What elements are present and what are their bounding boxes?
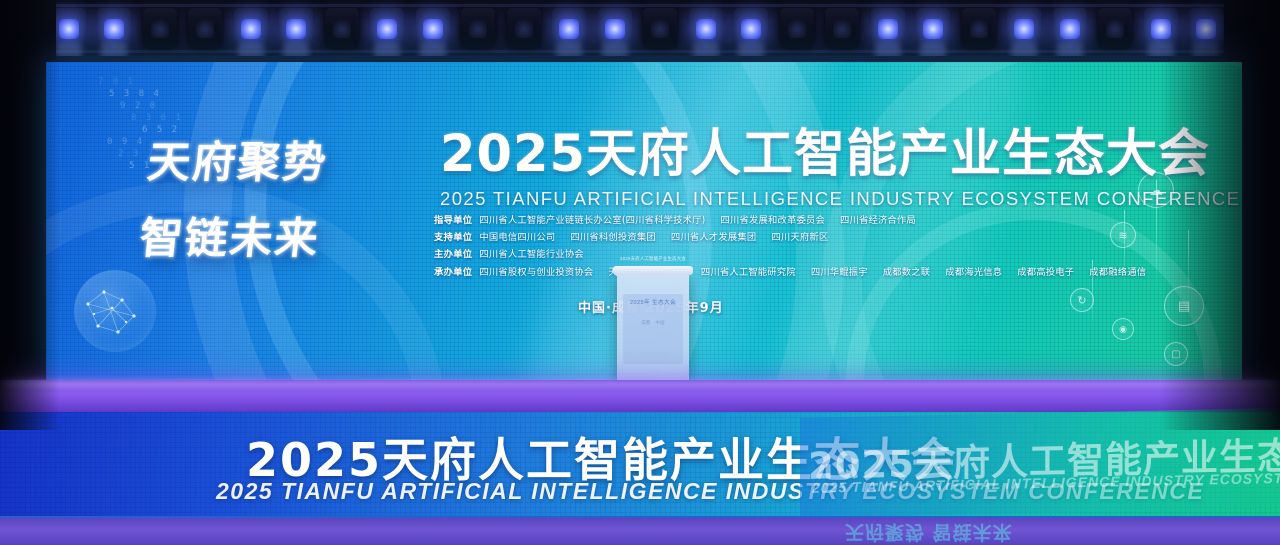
organizer-item: 四川省人工智能行业协会 <box>479 246 583 260</box>
organizer-item: 四川省人才发展集团 <box>671 229 756 243</box>
stage-light-fixture <box>188 8 222 48</box>
stage-light-fixture <box>97 8 131 48</box>
organizer-label: 主办单位 <box>434 246 472 260</box>
podium-top-surface <box>613 266 693 275</box>
organizer-item: 四川省发展和改革委员会 <box>720 212 824 226</box>
stage-light-fixture <box>916 8 950 48</box>
stage-light-fixture <box>1098 8 1132 48</box>
stage-light-fixture <box>871 8 905 48</box>
slogan-block: 天府聚势 智链未来 <box>140 128 390 273</box>
organizer-row: 指导单位四川省人工智能产业链链长办公室(四川省科学技术厅)四川省发展和改革委员会… <box>434 212 1194 226</box>
podium-header-text: 2025天府人工智能产业生态大会 <box>617 256 689 262</box>
stage-light-fixture <box>1007 8 1041 48</box>
organizer-label: 承办单位 <box>434 264 472 278</box>
refresh-icon: ↻ <box>1070 288 1094 312</box>
stage-light-fixture <box>825 8 859 48</box>
organizer-item: 成都高投电子 <box>1017 264 1074 278</box>
truss-bar-top <box>0 4 1280 7</box>
stage-light-fixture <box>734 8 768 48</box>
floor-reflection-sheen <box>0 516 1280 545</box>
stage-led-strip <box>0 380 1280 414</box>
chat-bubble-icon: ▤ <box>1164 286 1204 326</box>
organizer-list: 指导单位四川省人工智能产业链链长办公室(四川省科学技术厅)四川省发展和改革委员会… <box>434 212 1194 281</box>
stage-light-fixture <box>598 8 632 48</box>
lighting-truss <box>0 0 1280 58</box>
number-rain-line: 8 3 6 1 <box>131 112 298 124</box>
main-title-cn: 2025天府人工智能产业生态大会 <box>440 126 1180 184</box>
organizer-row: 承办单位四川省股权与创业投资协会天府绿poly实控宇四川省人工智能研究院四川华鲲… <box>434 264 1194 278</box>
location-pin-icon: ◉ <box>1112 318 1134 340</box>
organizer-item: 四川省人工智能产业链链长办公室(四川省科学技术厅) <box>479 212 705 226</box>
organizer-item: 四川省股权与创业投资协会 <box>479 264 593 278</box>
stage-light-fixture <box>643 8 677 48</box>
stage-light-fixture <box>689 8 723 48</box>
stage-light-fixture <box>1144 8 1178 48</box>
number-rain-line: 5 3 8 4 <box>109 88 298 100</box>
network-globe-graphic <box>74 270 156 352</box>
organizer-row: 支持单位中国电信四川公司四川省科创投资集团四川省人才发展集团四川天府新区 <box>434 229 1194 243</box>
number-rain-line: 7 0 1 <box>98 76 298 88</box>
organizer-item: 四川天府新区 <box>771 229 828 243</box>
slogan-line-2: 智链未来 <box>137 204 394 266</box>
organizer-item: 成都融络通信 <box>1089 264 1146 278</box>
organizer-item: 四川华鲲振宇 <box>811 264 868 278</box>
stage-light-fixture <box>962 8 996 48</box>
organizer-item: 中国电信四川公司 <box>479 229 555 243</box>
stage-light-fixture <box>1053 8 1087 48</box>
floor-reflected-text: 天府聚势 智链未来 <box>845 520 1013 545</box>
stage-light-fixture <box>780 8 814 48</box>
monitor-icon: ▢ <box>1164 342 1188 366</box>
speaker-podium: 2025天府人工智能产业生态大会 2025年 生态大会 成都 · 中国 <box>617 272 689 390</box>
stage-light-fixture <box>234 8 268 48</box>
number-rain-line: 9 2 0 <box>120 100 298 112</box>
podium-text-line-1: 2025年 生态大会 <box>617 298 689 306</box>
main-title-block: 2025天府人工智能产业生态大会 2025 TIANFU ARTIFICIAL … <box>440 126 1180 210</box>
stage-light-fixture <box>1189 8 1223 48</box>
stage-light-fixture <box>461 8 495 48</box>
truss-bar-bottom <box>0 50 1280 53</box>
podium-text-line-2: 成都 · 中国 <box>617 320 689 326</box>
organizer-item: 四川省科创投资集团 <box>570 229 655 243</box>
stage-light-fixture <box>507 8 541 48</box>
organizer-label: 支持单位 <box>434 229 472 243</box>
stage-light-fixture <box>552 8 586 48</box>
organizer-item: 成都海光信息 <box>945 264 1002 278</box>
stage-light-fixture <box>370 8 404 48</box>
stage-light-fixture <box>416 8 450 48</box>
stage-scene: 7 0 15 3 8 49 2 08 3 6 16 5 20 9 42 3 75… <box>0 0 1280 545</box>
stage-floor: 天府聚势 智链未来 <box>0 516 1280 545</box>
organizer-item: 四川省人工智能研究院 <box>701 264 796 278</box>
stage-light-fixture <box>143 8 177 48</box>
organizer-row: 主办单位四川省人工智能行业协会 <box>434 246 1194 260</box>
stage-light-fixture <box>279 8 313 48</box>
organizer-label: 指导单位 <box>434 212 472 226</box>
stage-light-fixture <box>52 8 86 48</box>
organizer-item: 成都数之联 <box>883 264 931 278</box>
stage-light-fixture <box>325 8 359 48</box>
organizer-item: 四川省经济合作局 <box>840 212 916 226</box>
side-angled-banner: 2025天府人工智能产业生态大会 2025 TIANFU ARTIFICIAL … <box>800 407 1280 518</box>
main-title-en: 2025 TIANFU ARTIFICIAL INTELLIGENCE INDU… <box>440 188 1180 210</box>
slogan-line-1: 天府聚势 <box>145 128 394 190</box>
